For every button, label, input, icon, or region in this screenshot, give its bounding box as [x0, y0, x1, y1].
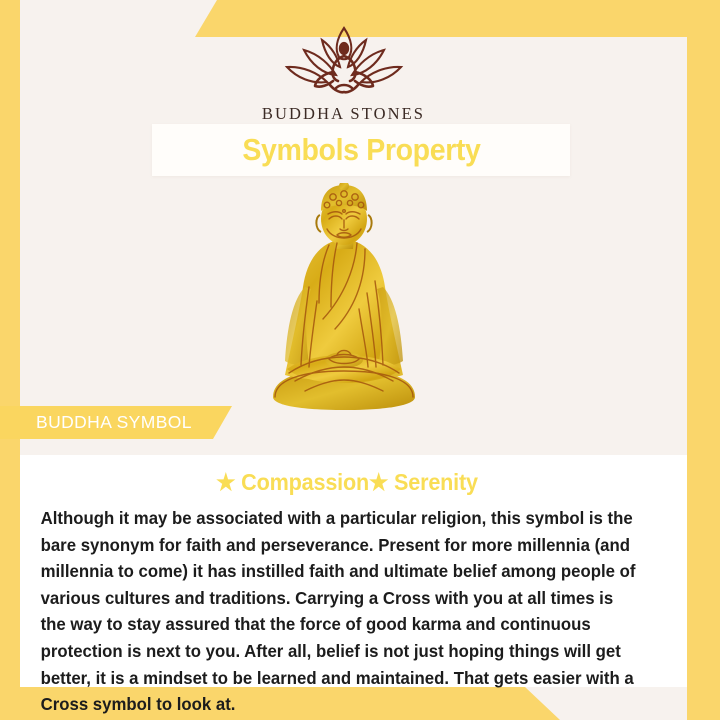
category-ribbon: BUDDHA SYMBOL — [0, 406, 232, 439]
category-ribbon-label: BUDDHA SYMBOL — [36, 412, 192, 433]
infographic-poster: BUDDHA STONES Symbols Property — [0, 0, 720, 720]
lotus-meditation-icon — [278, 22, 410, 98]
seated-golden-buddha-illustration — [249, 183, 439, 415]
content-subtitle: ★ Compassion★ Serenity — [48, 469, 646, 496]
buddha-illustration-container — [0, 183, 687, 415]
title-banner: Symbols Property — [152, 124, 570, 176]
content-body: Although it may be associated with a par… — [29, 505, 643, 718]
brand-logo: BUDDHA STONES — [0, 22, 687, 124]
page-title: Symbols Property — [242, 132, 480, 168]
content-card: ★ Compassion★ Serenity Although it may b… — [20, 455, 687, 687]
decorative-right-border — [687, 0, 720, 720]
brand-wordmark: BUDDHA STONES — [262, 104, 425, 124]
